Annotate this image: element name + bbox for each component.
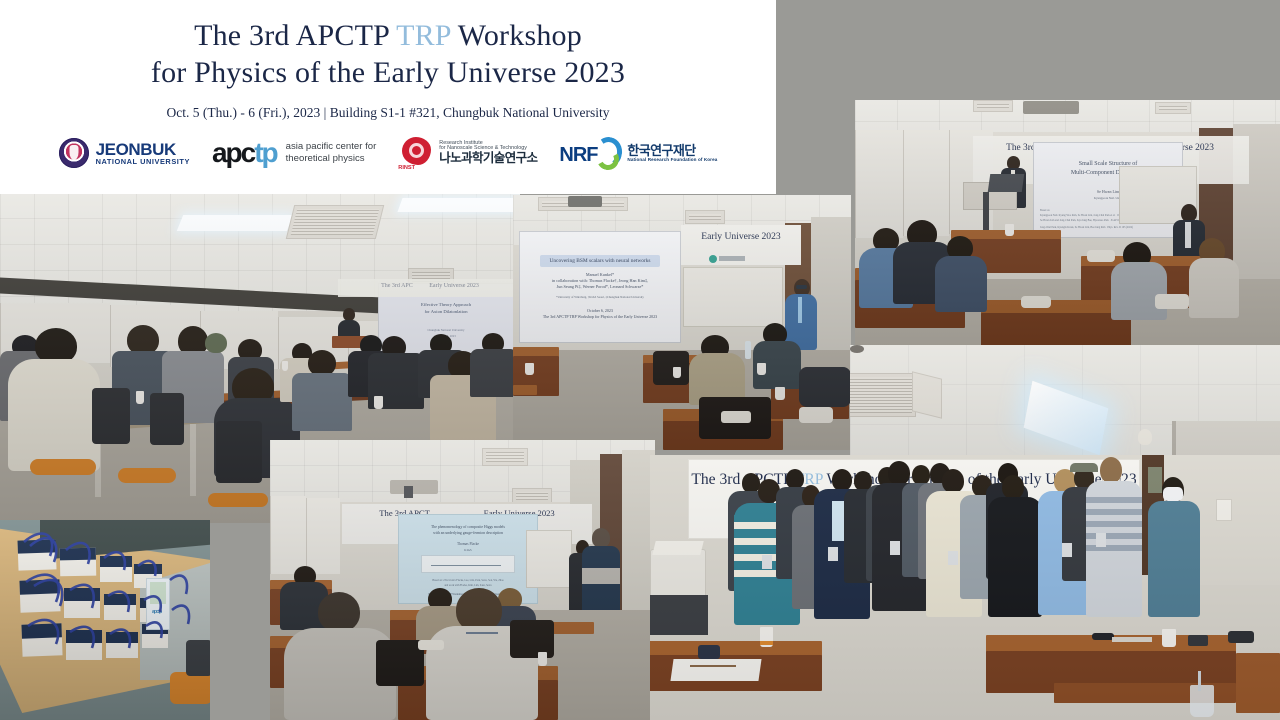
trp-accent: TRP xyxy=(396,19,451,52)
jeonbuk-name: JEONBUK xyxy=(96,141,190,158)
logo-nrf: NRF 한국연구재단 National Research Foundation … xyxy=(559,137,717,169)
sponsor-logo-row: JEONBUK NATIONAL UNIVERSITY apctp asia p… xyxy=(0,136,776,170)
jeonbuk-seal-icon xyxy=(59,138,89,168)
poster-collage-image: Effective Theory Approach for Axion Dila… xyxy=(0,0,1280,720)
rinst-mark-icon: RINST xyxy=(398,136,434,170)
rinst-korean: 나노과학기술연구소 xyxy=(439,152,537,165)
logo-apctp: apctp asia pacific center for theoretica… xyxy=(212,139,376,167)
apctp-tagline: asia pacific center for theoretical phys… xyxy=(286,141,377,165)
nrf-korean: 한국연구재단 xyxy=(627,144,717,158)
title-line-2: for Physics of the Early Universe 2023 xyxy=(151,56,625,89)
apctp-wordmark: apctp xyxy=(212,139,277,167)
workshop-poster-header: The 3rd APCTP TRP Workshop for Physics o… xyxy=(0,0,776,194)
logo-rinst: RINST Research Institute for Nanoscale S… xyxy=(398,136,537,170)
photo-name-badges: apctp xyxy=(0,520,210,720)
title-line-1: The 3rd APCTP TRP Workshop xyxy=(194,19,582,52)
jeonbuk-subname: NATIONAL UNIVERSITY xyxy=(96,158,190,166)
photo-talk-composite-higgs: The 3rd APCT Early Universe 2023 The phe… xyxy=(270,440,655,720)
photo-group-photo: The 3rd APCTP TRP Workshop for Physics o… xyxy=(650,455,1280,720)
nrf-mark-icon: NRF xyxy=(559,137,621,169)
nrf-english: National Research Foundation of Korea xyxy=(627,158,717,163)
photo-classroom-ceiling xyxy=(850,345,1280,465)
photo-talk-dark-matter: The 3rd APCT Early Universe 2023 Small S… xyxy=(855,100,1280,345)
logo-jeonbuk-national-university: JEONBUK NATIONAL UNIVERSITY xyxy=(59,138,190,168)
page-title: The 3rd APCTP TRP Workshop for Physics o… xyxy=(0,0,776,91)
photo-talk-neural-networks: Early Universe 2023 Uncovering BSM scala… xyxy=(513,195,851,450)
poster-subtitle: Oct. 5 (Thu.) - 6 (Fri.), 2023 | Buildin… xyxy=(0,105,776,121)
